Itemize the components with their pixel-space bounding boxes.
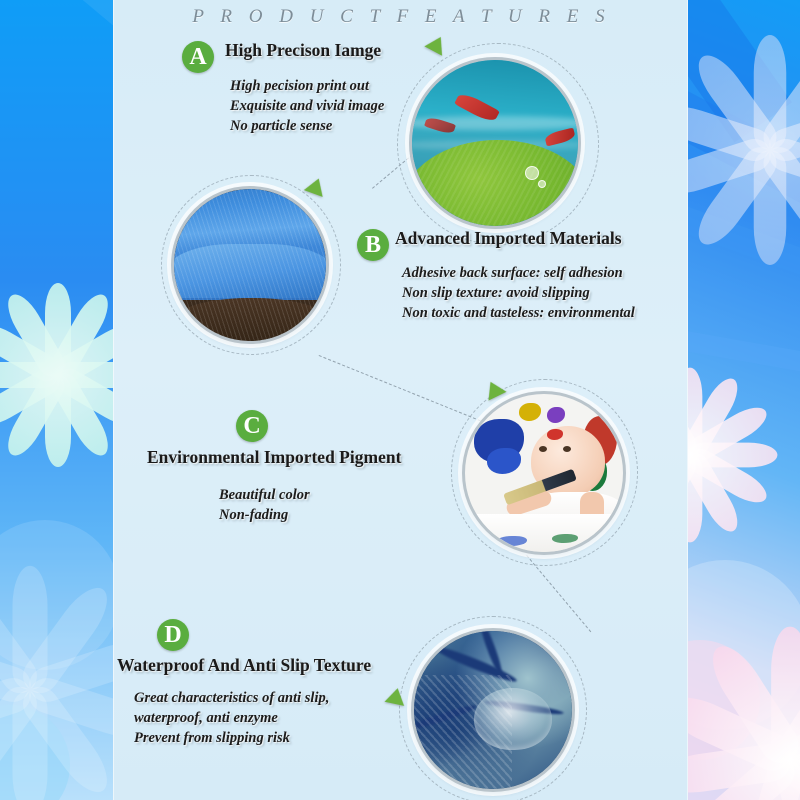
feature-badge-a: A	[182, 41, 214, 73]
feature-body-b: Adhesive back surface: self adhesion Non…	[402, 263, 635, 323]
arrow-to-photo-d	[385, 686, 408, 706]
feature-body-a: High pecision print out Exquisite and vi…	[230, 76, 384, 136]
connector-c-to-d	[526, 555, 591, 632]
content-panel: P R O D U C T F E A T U R E S A High Pre…	[113, 0, 688, 800]
underwater-fish-lily-pad-photo	[409, 57, 581, 229]
feature-body-c: Beautiful color Non-fading	[219, 485, 310, 525]
painting-baby-photo	[462, 391, 626, 555]
arrow-to-photo-a	[424, 32, 449, 56]
feature-badge-d: D	[157, 619, 189, 651]
feature-heading-c: Environmental Imported Pigment	[147, 447, 401, 468]
feature-badge-c: C	[236, 410, 268, 442]
page-title: P R O D U C T F E A T U R E S	[114, 6, 688, 28]
waterproof-anti-slip-texture-photo	[411, 628, 575, 792]
feature-heading-d: Waterproof And Anti Slip Texture	[117, 655, 371, 676]
blue-woven-fabric-photo	[171, 186, 329, 344]
feature-heading-b: Advanced Imported Materials	[395, 228, 622, 249]
product-features-infographic: P R O D U C T F E A T U R E S A High Pre…	[0, 0, 800, 800]
feature-heading-a: High Precison Iamge	[225, 40, 381, 61]
feature-body-d: Great characteristics of anti slip, wate…	[134, 688, 329, 748]
feature-badge-b: B	[357, 229, 389, 261]
